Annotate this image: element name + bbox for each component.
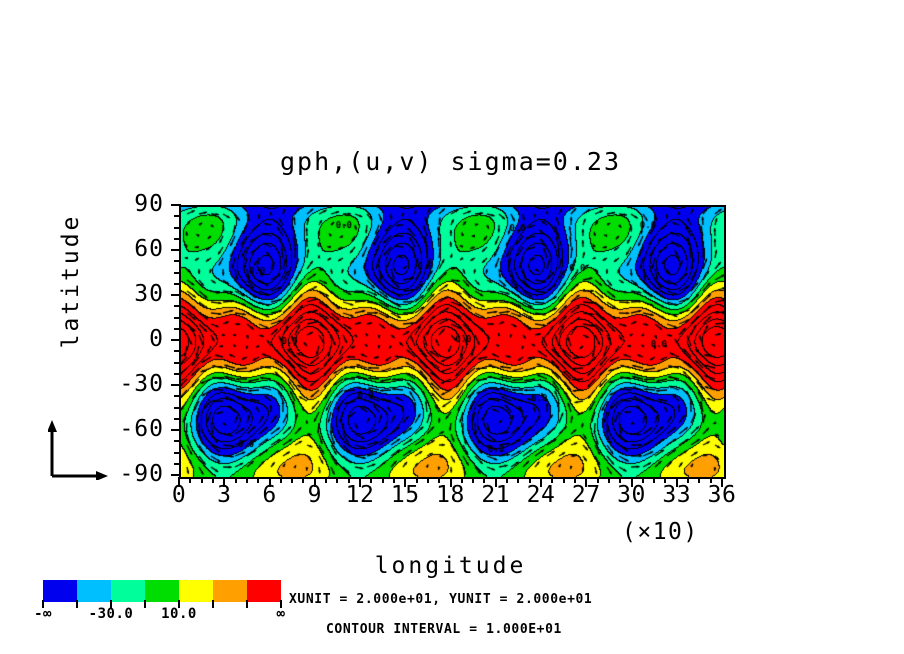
x-tick-minor (517, 477, 519, 483)
x-tick-minor (201, 477, 203, 483)
y-tick-label: 60 (134, 238, 164, 261)
x-tick-minor (246, 477, 248, 483)
colorbar-band (43, 580, 77, 602)
x-tick-minor (698, 477, 700, 483)
colorbar-band (213, 580, 247, 602)
x-tick-minor (336, 477, 338, 483)
x-tick-minor (427, 477, 429, 483)
x-tick-minor (325, 477, 327, 483)
colorbar-label: -30.0 (89, 607, 134, 621)
x-tick-label: 6 (262, 484, 276, 507)
colorbar-band (111, 580, 145, 602)
x-axis-tick-labels: 0369121518212427303336 (179, 484, 722, 514)
contour-interval-annotation: CONTOUR INTERVAL = 1.000E+01 (326, 622, 562, 637)
x-tick-minor (212, 477, 214, 483)
x-tick-label: 12 (346, 484, 375, 507)
x-tick-minor (382, 477, 384, 483)
x-tick-label: 9 (308, 484, 322, 507)
x-tick-label: 24 (527, 484, 556, 507)
x-tick-label: 18 (436, 484, 465, 507)
x-tick-minor (472, 477, 474, 483)
x-tick-minor (235, 477, 237, 483)
figure-root: gph,(u,v) sigma=0.23 latitude 9060300-30… (0, 0, 904, 654)
x-tick-label: 33 (662, 484, 691, 507)
y-axis-label: latitude (58, 201, 84, 361)
x-tick-minor (189, 477, 191, 483)
x-tick-label: 21 (481, 484, 510, 507)
page-title: gph,(u,v) sigma=0.23 (178, 147, 723, 176)
x-tick-label: 27 (572, 484, 601, 507)
colorbar-band (77, 580, 111, 602)
x-tick-label: 36 (708, 484, 737, 507)
y-tick-label: 90 (134, 193, 164, 216)
colorbar-band (247, 580, 281, 602)
x-tick-label: 15 (391, 484, 420, 507)
y-tick-label: 30 (134, 283, 164, 306)
colorbar-label: ∞ (277, 607, 286, 621)
colorbar-label: 10.0 (161, 607, 197, 621)
x-axis-multiplier: (×10) (622, 519, 699, 545)
x-tick-minor (291, 477, 293, 483)
colorbar-label: -∞ (34, 607, 52, 621)
vector-key-icon (48, 418, 144, 480)
x-tick-minor (608, 477, 610, 483)
colorbar-band (145, 580, 179, 602)
colorbar-band (179, 580, 213, 602)
colorbar (43, 580, 281, 602)
x-tick-minor (257, 477, 259, 483)
x-tick-minor (563, 477, 565, 483)
x-tick-minor (653, 477, 655, 483)
x-tick-label: 3 (217, 484, 231, 507)
x-tick-label: 30 (617, 484, 646, 507)
y-tick-label: 0 (149, 328, 164, 351)
contour-field-canvas (181, 207, 724, 477)
x-axis-label: longitude (179, 553, 722, 579)
x-tick-minor (302, 477, 304, 483)
units-annotation: XUNIT = 2.000e+01, YUNIT = 2.000e+01 (289, 592, 592, 607)
plot-area[interactable] (179, 205, 726, 479)
y-tick-label: -30 (119, 373, 164, 396)
x-tick-label: 0 (172, 484, 186, 507)
colorbar-labels: -∞-30.010.0∞ (20, 607, 310, 627)
x-tick-minor (280, 477, 282, 483)
